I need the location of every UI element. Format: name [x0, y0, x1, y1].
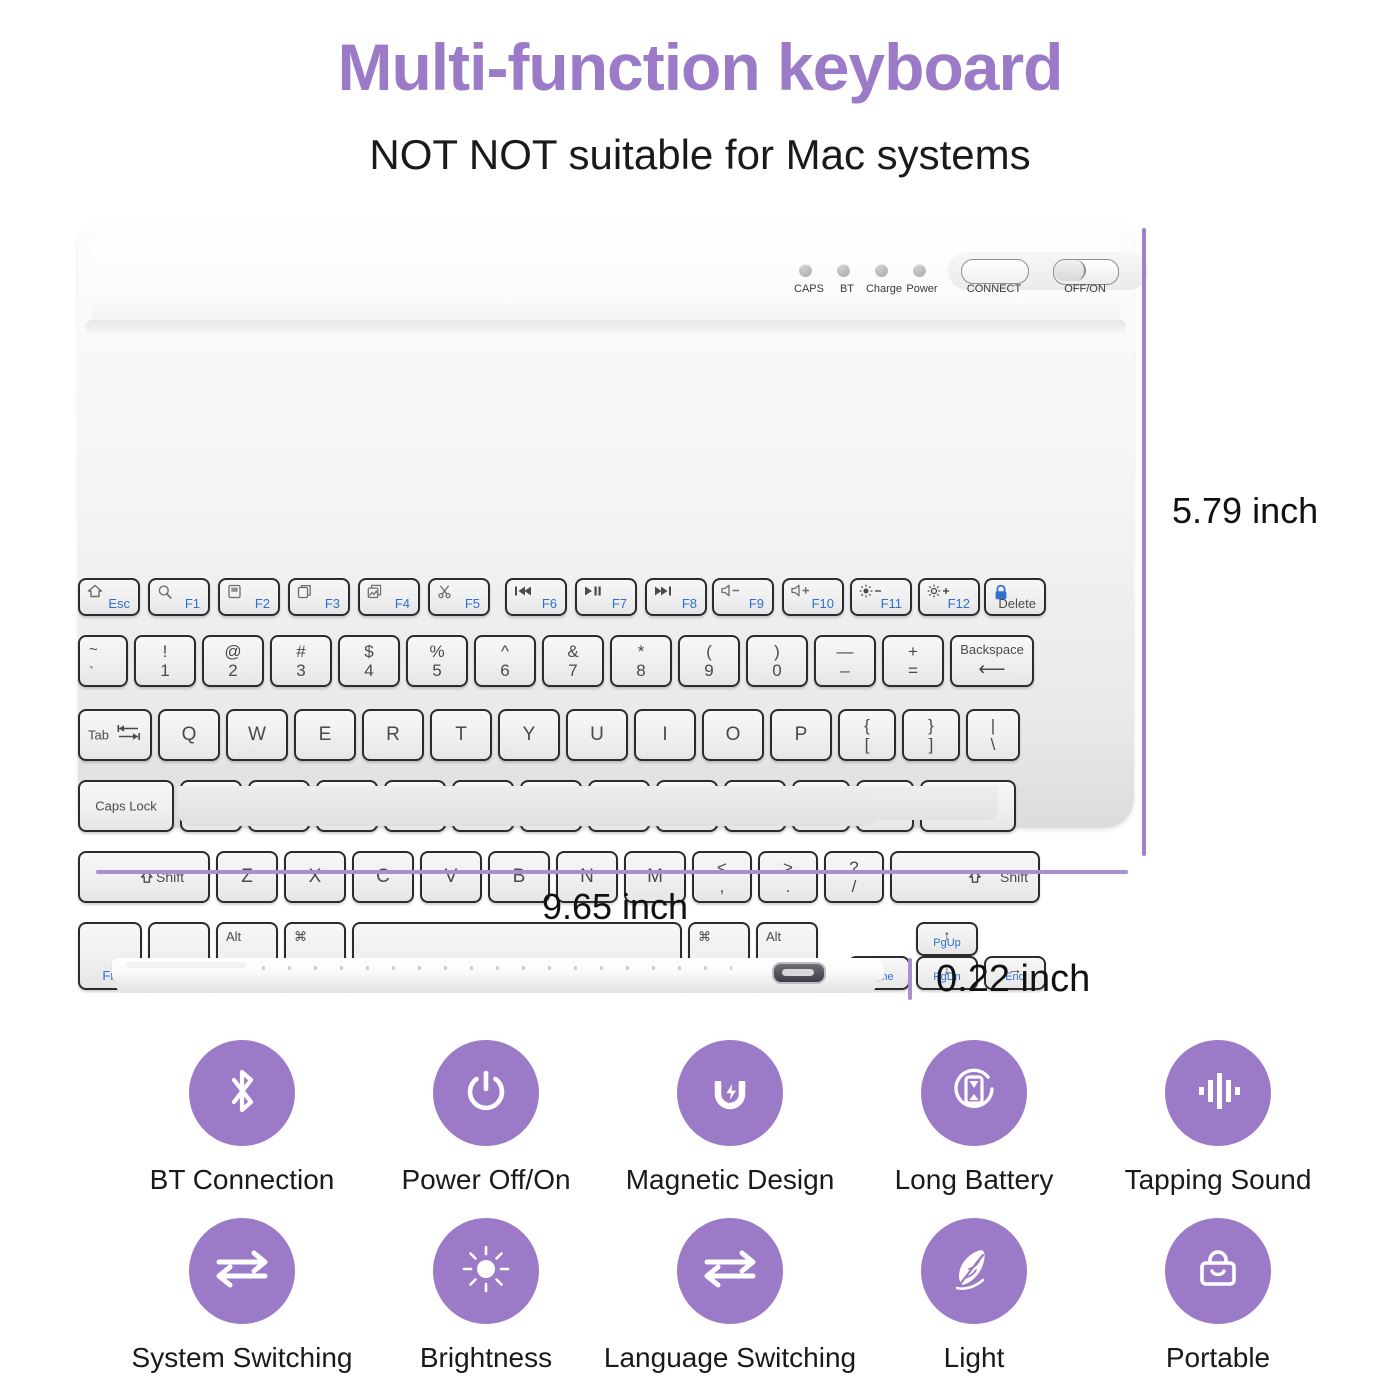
- key-f10[interactable]: F10: [782, 578, 844, 616]
- key-upper-legend: #: [272, 642, 330, 662]
- key-lower-legend: 8: [612, 661, 670, 681]
- feature-label: BT Connection: [150, 1164, 335, 1196]
- key-upper-legend: ^: [476, 642, 534, 662]
- key-upper-legend: &: [544, 642, 602, 662]
- feature-label: Portable: [1166, 1342, 1270, 1374]
- key-upper-legend: @: [204, 642, 262, 662]
- feature-item-brightness: Brightness: [364, 1218, 608, 1374]
- play-pause-icon: [584, 584, 602, 600]
- key-r[interactable]: R: [362, 709, 424, 761]
- key-lower-legend: 2: [204, 661, 262, 681]
- page-subtitle: NOT NOT suitable for Mac systems: [0, 134, 1400, 176]
- arrow-key-sublabel: PgUp: [918, 937, 976, 949]
- brightness-down-icon: [859, 584, 883, 601]
- key-num-6[interactable]: ^6: [474, 635, 536, 687]
- keyboard-side-view: [112, 952, 884, 1004]
- caps-lock-label: Caps Lock: [80, 799, 172, 814]
- connect-button[interactable]: [961, 259, 1029, 284]
- key-upper-legend: *: [612, 642, 670, 662]
- feature-icon-badge: [921, 1218, 1027, 1324]
- copy-icon: [297, 584, 312, 602]
- key-u[interactable]: U: [566, 709, 628, 761]
- key-f11[interactable]: F11: [850, 578, 912, 616]
- feature-item-language-switching: Language Switching: [608, 1218, 852, 1374]
- feature-icon-badge: [677, 1218, 783, 1324]
- key-upper-legend: }: [904, 716, 958, 736]
- side-view-seam: [262, 966, 732, 970]
- home-icon: [87, 584, 103, 601]
- width-dimension-line: [96, 870, 1128, 874]
- hourglass-battery-icon: [946, 1063, 1002, 1124]
- key-num-10[interactable]: )0: [746, 635, 808, 687]
- key-legend: T: [432, 724, 490, 746]
- key-num-9[interactable]: (9: [678, 635, 740, 687]
- gallery-icon: [367, 584, 382, 602]
- key-lower-legend: –: [816, 661, 874, 681]
- key-num-7[interactable]: &7: [542, 635, 604, 687]
- key-upper-legend: $: [340, 642, 398, 662]
- usb-c-port-icon: [772, 962, 826, 984]
- feature-item-system-switching: System Switching: [120, 1218, 364, 1374]
- side-view-bottom-shell: [116, 976, 876, 993]
- key-num-2[interactable]: @2: [202, 635, 264, 687]
- feature-icon-badge: [1165, 1218, 1271, 1324]
- key-num-3[interactable]: #3: [270, 635, 332, 687]
- key-f1[interactable]: F1: [148, 578, 210, 616]
- feature-label: Brightness: [420, 1342, 552, 1374]
- width-dimension-label: 9.65 inch: [0, 886, 1230, 928]
- fn-key-label: F9: [749, 596, 764, 611]
- volume-up-icon: [791, 584, 813, 600]
- feature-item-bt-connection: BT Connection: [120, 1040, 364, 1196]
- feature-icon-badge: [921, 1040, 1027, 1146]
- key-legend: P: [772, 724, 830, 746]
- key-legend: U: [568, 724, 626, 746]
- key-upper-legend: ~: [89, 641, 98, 658]
- keyboard-bottom-edge-right: [868, 786, 998, 820]
- key-upper-legend: (: [680, 642, 738, 662]
- bluetooth-icon: [215, 1064, 269, 1123]
- feature-icon-badge: [433, 1040, 539, 1146]
- sun-icon: [459, 1242, 513, 1301]
- key-lower-legend: ]: [904, 735, 958, 755]
- fn-key-label: F11: [881, 596, 902, 611]
- thickness-dimension-line: [908, 958, 912, 1000]
- feature-icon-badge: [189, 1040, 295, 1146]
- key-lower-legend: 6: [476, 661, 534, 681]
- fn-key-label: F4: [395, 596, 410, 611]
- key-o[interactable]: O: [702, 709, 764, 761]
- key-esc[interactable]: Esc: [78, 578, 140, 616]
- key-legend: E: [296, 724, 354, 746]
- fn-key-label: F6: [542, 596, 557, 611]
- key-f6[interactable]: F6: [505, 578, 567, 616]
- key-lower-legend: 7: [544, 661, 602, 681]
- led-charge: [875, 264, 888, 277]
- usb-c-port-inner: [782, 969, 814, 976]
- key-tab[interactable]: Tab: [78, 709, 152, 761]
- key-i[interactable]: I: [634, 709, 696, 761]
- key-upper-legend: %: [408, 642, 466, 662]
- key-upper-legend: ⌘: [294, 929, 307, 945]
- power-icon: [459, 1064, 513, 1123]
- key-lower-legend: 0: [748, 661, 806, 681]
- feather-icon: [947, 1242, 1001, 1301]
- key-f8[interactable]: F8: [645, 578, 707, 616]
- feature-grid: BT ConnectionPower Off/OnMagnetic Design…: [120, 1040, 1340, 1374]
- key-upper-legend: ): [748, 642, 806, 662]
- key-p[interactable]: P: [770, 709, 832, 761]
- height-dimension-line: [1142, 228, 1146, 856]
- key-upper-legend: !: [136, 642, 194, 662]
- key-bracket-0[interactable]: {[: [838, 709, 896, 761]
- key-lower-legend: 3: [272, 661, 330, 681]
- key-legend: R: [364, 724, 422, 746]
- key-legend: I: [636, 724, 694, 746]
- key-q[interactable]: Q: [158, 709, 220, 761]
- key-num-11[interactable]: —–: [814, 635, 876, 687]
- led-bt: [837, 264, 850, 277]
- key-upper-legend: |: [968, 716, 1018, 736]
- key-lower-legend: [: [840, 735, 894, 755]
- fn-key-label: F8: [682, 596, 697, 611]
- key-caps-lock[interactable]: Caps Lock: [78, 780, 174, 832]
- feature-label: Magnetic Design: [626, 1164, 835, 1196]
- tab-label: Tab: [88, 728, 109, 743]
- tab-arrows-icon: [116, 724, 142, 747]
- key-bracket-1[interactable]: }]: [902, 709, 960, 761]
- height-dimension-label: 5.79 inch: [1172, 490, 1318, 532]
- power-switch-label: OFF/ON: [1051, 283, 1119, 295]
- swap-arrows-icon: [701, 1249, 759, 1294]
- key-upper-legend: >: [760, 858, 816, 878]
- key-lower-legend: 4: [340, 661, 398, 681]
- key-delete[interactable]: Delete: [984, 578, 1046, 616]
- feature-item-light: Light: [852, 1218, 1096, 1374]
- key-upper-legend: ?: [826, 858, 882, 878]
- fn-key-label: F3: [325, 596, 340, 611]
- key-f4[interactable]: F4: [358, 578, 420, 616]
- keyboard-top-view: CAPS BT Charge Power CONNECT OFF/ON EscF…: [78, 220, 1134, 840]
- feature-item-portable: Portable: [1096, 1218, 1340, 1374]
- feature-label: Long Battery: [895, 1164, 1054, 1196]
- key-legend: Q: [160, 724, 218, 746]
- key-lower-legend: =: [884, 661, 942, 681]
- key-bracket-2[interactable]: |\: [966, 709, 1020, 761]
- thickness-dimension-label: 0.22 inch: [936, 958, 1090, 1001]
- feature-icon-badge: [1165, 1040, 1271, 1146]
- side-view-notch: [126, 962, 246, 968]
- feature-label: Light: [944, 1342, 1005, 1374]
- magnet-icon: [703, 1064, 757, 1123]
- key-f7[interactable]: F7: [575, 578, 637, 616]
- key-legend: Y: [500, 724, 558, 746]
- key-lower-legend: 9: [680, 661, 738, 681]
- power-switch-knob: [1054, 260, 1086, 281]
- fn-key-label: F2: [255, 596, 270, 611]
- key-w[interactable]: W: [226, 709, 288, 761]
- key-f12[interactable]: F12: [918, 578, 980, 616]
- feature-label: System Switching: [132, 1342, 353, 1374]
- key-upper-legend: Alt: [226, 929, 241, 944]
- feature-icon-badge: [189, 1218, 295, 1324]
- next-track-icon: [654, 584, 672, 600]
- key-f3[interactable]: F3: [288, 578, 350, 616]
- key-upper-legend: {: [840, 716, 894, 736]
- key-upper-legend: ⌘: [698, 929, 711, 945]
- fn-key-label: F12: [948, 596, 970, 611]
- key-upper-legend: +: [884, 642, 942, 662]
- led-caps: [799, 264, 812, 277]
- fn-key-label: Delete: [998, 596, 1036, 611]
- key-f5[interactable]: F5: [428, 578, 490, 616]
- backspace-arrow-icon: ⟵: [952, 658, 1032, 681]
- connect-label: CONNECT: [953, 283, 1035, 295]
- key-num-8[interactable]: *8: [610, 635, 672, 687]
- prev-track-icon: [514, 584, 532, 600]
- keyboard-bottom-edge: [178, 786, 878, 826]
- feature-label: Tapping Sound: [1125, 1164, 1312, 1196]
- keyboard-lip: [86, 320, 1126, 334]
- fn-key-label: F1: [185, 596, 200, 611]
- feature-row-2: System SwitchingBrightnessLanguage Switc…: [120, 1218, 1340, 1374]
- feature-item-power-off-on: Power Off/On: [364, 1040, 608, 1196]
- key-upper-legend: —: [816, 642, 874, 662]
- key-num-4[interactable]: $4: [338, 635, 400, 687]
- feature-item-tapping-sound: Tapping Sound: [1096, 1040, 1340, 1196]
- feature-label: Language Switching: [604, 1342, 856, 1374]
- search-icon: [157, 584, 173, 603]
- fn-key-label: F5: [465, 596, 480, 611]
- backspace-label: Backspace: [952, 642, 1032, 657]
- feature-icon-badge: [677, 1040, 783, 1146]
- key-num-0[interactable]: ~`: [78, 635, 128, 687]
- product-infographic: Multi-function keyboard NOT NOT suitable…: [0, 0, 1400, 1400]
- fn-key-label: Esc: [108, 596, 130, 611]
- key-num-13[interactable]: Backspace⟵: [950, 635, 1034, 687]
- key-num-5[interactable]: %5: [406, 635, 468, 687]
- led-power: [913, 264, 926, 277]
- power-switch[interactable]: [1053, 259, 1119, 285]
- key-t[interactable]: T: [430, 709, 492, 761]
- bag-icon: [1191, 1242, 1245, 1301]
- screenshot-icon: [227, 584, 242, 602]
- key-lower-legend: `: [89, 664, 94, 681]
- swap-arrows-icon: [213, 1249, 271, 1294]
- fn-key-label: F10: [812, 596, 834, 611]
- key-upper-legend: Alt: [766, 929, 781, 944]
- scissors-icon: [437, 584, 452, 602]
- key-f2[interactable]: F2: [218, 578, 280, 616]
- feature-row-1: BT ConnectionPower Off/OnMagnetic Design…: [120, 1040, 1340, 1196]
- key-lower-legend: 1: [136, 661, 194, 681]
- fn-key-label: F7: [612, 596, 627, 611]
- key-legend: O: [704, 724, 762, 746]
- feature-item-magnetic-design: Magnetic Design: [608, 1040, 852, 1196]
- key-e[interactable]: E: [294, 709, 356, 761]
- key-lower-legend: 5: [408, 661, 466, 681]
- key-f9[interactable]: F9: [712, 578, 774, 616]
- feature-label: Power Off/On: [401, 1164, 570, 1196]
- sound-wave-icon: [1191, 1064, 1245, 1123]
- key-y[interactable]: Y: [498, 709, 560, 761]
- feature-item-long-battery: Long Battery: [852, 1040, 1096, 1196]
- key-legend: W: [228, 724, 286, 746]
- key-num-12[interactable]: +=: [882, 635, 944, 687]
- page-title: Multi-function keyboard: [0, 34, 1400, 100]
- led-label-power: Power: [892, 283, 952, 295]
- key-num-1[interactable]: !1: [134, 635, 196, 687]
- feature-icon-badge: [433, 1218, 539, 1324]
- key-upper-legend: <: [694, 858, 750, 878]
- key-lower-legend: \: [968, 735, 1018, 755]
- status-indicator-panel: CAPS BT Charge Power CONNECT OFF/ON: [793, 256, 1103, 316]
- volume-down-icon: [721, 584, 743, 600]
